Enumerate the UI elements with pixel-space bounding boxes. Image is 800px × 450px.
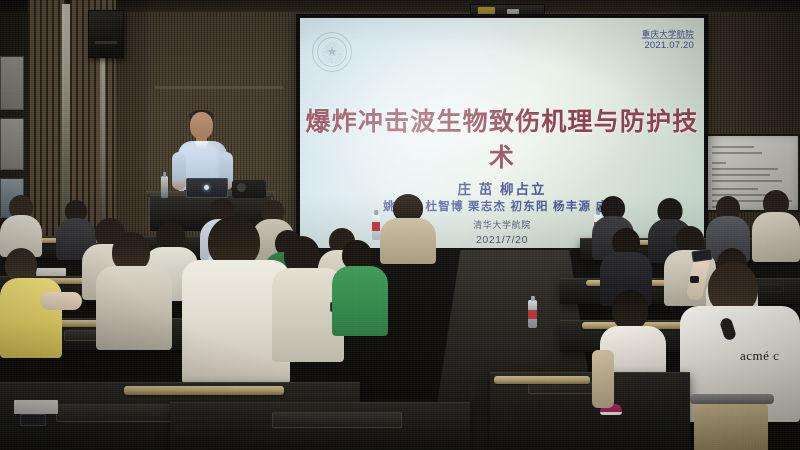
slide-title: 爆炸冲击波生物致伤机理与防护技术 bbox=[300, 102, 704, 174]
audience-member-green-shirt bbox=[332, 240, 388, 332]
audience-member-b1 bbox=[0, 195, 42, 255]
audience-member-r4 bbox=[752, 190, 800, 260]
glasses-icon-acme bbox=[758, 284, 784, 292]
audience-member-grey-shirt bbox=[96, 232, 172, 344]
wall-notice-upper bbox=[0, 56, 24, 110]
phone-on-desk-row1[interactable] bbox=[20, 414, 46, 426]
arm-yellow-shirt bbox=[40, 292, 82, 310]
wall-speaker bbox=[88, 10, 124, 58]
wall-rail bbox=[155, 86, 283, 89]
slide-authors-secondary: 姚熊亮 杜智博 栗志杰 初东阳 杨丰源 成健 bbox=[300, 198, 704, 214]
desk-ledge-row-1b bbox=[494, 376, 590, 384]
slide-authors-primary: 庄 茁 柳占立 bbox=[300, 178, 704, 198]
slide-header: 重庆大学航院 2021.07.20 bbox=[642, 29, 694, 52]
university-seal-icon bbox=[312, 32, 352, 72]
slide-org-label: 重庆大学航院 bbox=[642, 29, 694, 40]
window-light-strip-secondary bbox=[100, 42, 105, 242]
water-bottle-row-2 bbox=[528, 300, 537, 328]
lecture-hall-scene: 重庆大学航院 2021.07.20 爆炸冲击波生物致伤机理与防护技术 庄 茁 柳… bbox=[0, 0, 800, 450]
tshirt-brand-text: acmé c bbox=[740, 348, 779, 364]
desk-ledge-row-1a bbox=[124, 386, 284, 395]
presenter-head bbox=[190, 112, 213, 139]
water-bottle-center bbox=[372, 214, 380, 240]
wall-notice-middle bbox=[0, 118, 24, 170]
presenter-arm-left bbox=[172, 152, 186, 190]
desk-panel-row-1-center bbox=[272, 412, 402, 428]
chair-frame bbox=[690, 394, 774, 404]
glasses-icon-r1 bbox=[598, 206, 618, 212]
podium-av-equipment bbox=[232, 180, 266, 198]
projection-screen: 重庆大学航院 2021.07.20 爆炸冲击波生物致伤机理与防护技术 庄 茁 柳… bbox=[300, 18, 704, 255]
chair-back[interactable] bbox=[694, 402, 768, 450]
audience-member-center-front bbox=[380, 194, 436, 260]
slide-header-date: 2021.07.20 bbox=[642, 40, 694, 52]
paper-row-1 bbox=[14, 400, 58, 414]
seal-tick-ring bbox=[322, 42, 344, 64]
podium-water-bottle bbox=[161, 176, 168, 198]
leg bbox=[592, 350, 614, 408]
laptop-logo-icon bbox=[204, 185, 209, 190]
glasses-icon-c7 bbox=[672, 236, 692, 242]
